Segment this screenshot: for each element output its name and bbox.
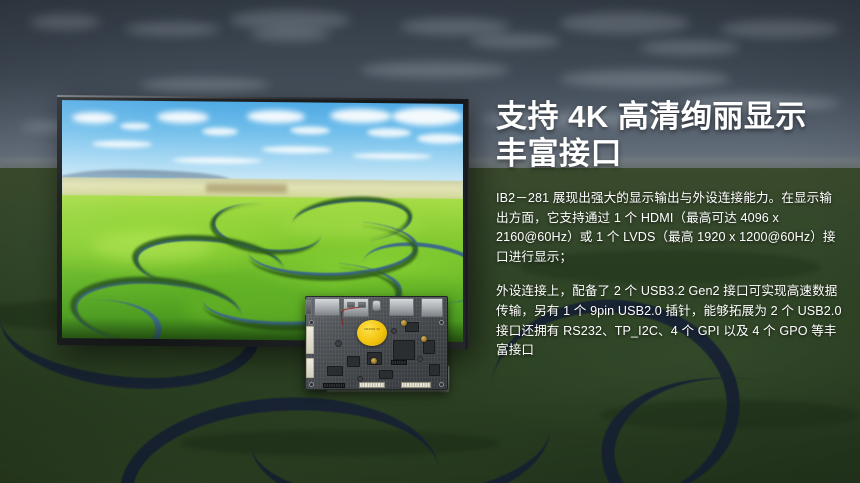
mounting-screw bbox=[401, 320, 407, 326]
panel-power-connector bbox=[306, 358, 314, 378]
description-paragraph-2: 外设连接上，配备了 2 个 USB3.2 Gen2 接口可实现高速数据传输，另有… bbox=[496, 282, 844, 360]
page-title-line-1: 支持 4K 高清绚丽显示 bbox=[496, 98, 844, 135]
screen-cloud-icon bbox=[202, 127, 238, 135]
tv-bezel-right-edge bbox=[464, 99, 469, 349]
mounting-hole bbox=[439, 382, 444, 387]
screen-cloud-icon bbox=[120, 123, 150, 130]
controller-chip bbox=[379, 370, 393, 379]
mounting-hole bbox=[309, 320, 314, 325]
hdmi-port bbox=[389, 298, 414, 316]
cmos-battery: CR2032 3V bbox=[357, 320, 387, 346]
audio-jack bbox=[372, 300, 381, 311]
mounting-screw bbox=[371, 358, 377, 364]
capacitor bbox=[417, 356, 423, 362]
battery-label: CR2032 3V bbox=[357, 328, 387, 332]
mounting-screw bbox=[421, 336, 427, 342]
description-paragraph-1: IB2－281 展现出强大的显示输出与外设连接能力。在显示输出方面，它支持通过 … bbox=[496, 189, 844, 267]
memory-chip bbox=[347, 356, 360, 367]
ib2-281-motherboard[interactable]: CR2032 3V bbox=[305, 296, 448, 390]
capacitor bbox=[391, 328, 397, 334]
soc-chip bbox=[393, 340, 415, 360]
gpio-header bbox=[323, 383, 345, 388]
controller-chip bbox=[327, 366, 343, 376]
mounting-hole bbox=[439, 320, 444, 325]
battery-wire bbox=[340, 307, 362, 326]
controller-chip bbox=[405, 322, 419, 332]
controller-chip bbox=[423, 340, 435, 354]
controller-chip bbox=[429, 364, 440, 376]
power-connector bbox=[305, 299, 312, 315]
screen-cloud-icon bbox=[72, 112, 116, 123]
page-title-line-2: 丰富接口 bbox=[496, 135, 844, 172]
mounting-hole bbox=[309, 382, 314, 387]
rj45-ethernet-port bbox=[314, 298, 340, 316]
display-port bbox=[421, 298, 443, 317]
rs232-header bbox=[401, 382, 431, 388]
usb2-9pin-header bbox=[359, 382, 385, 388]
slide-stage: CR2032 3V 支持 4K 高清绚丽显示 丰富接口 bbox=[0, 0, 860, 483]
tp-i2c-header bbox=[391, 360, 407, 365]
capacitor bbox=[335, 340, 342, 347]
lvds-connector bbox=[306, 326, 314, 354]
text-content-panel: 支持 4K 高清绚丽显示 丰富接口 IB2－281 展现出强大的显示输出与外设连… bbox=[496, 98, 844, 361]
screen-sand-patch bbox=[206, 184, 286, 193]
